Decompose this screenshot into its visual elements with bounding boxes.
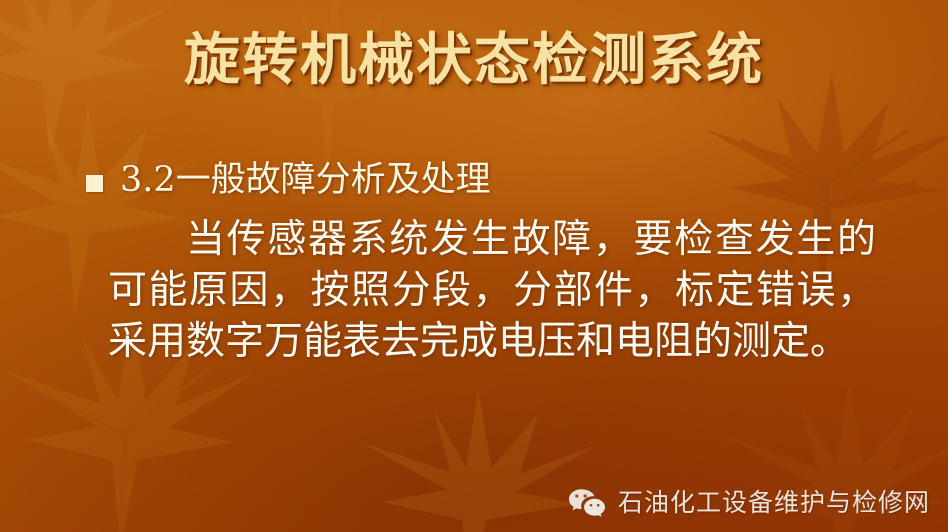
square-bullet-icon bbox=[86, 175, 103, 192]
bullet-heading-row: 3.2一般故障分析及处理 bbox=[86, 158, 491, 202]
slide-body-paragraph: 当传感器系统发生故障，要检查发生的可能原因，按照分段，分部件，标定错误，采用数字… bbox=[108, 214, 876, 367]
bullet-heading-label: 3.2一般故障分析及处理 bbox=[120, 158, 491, 202]
wechat-icon bbox=[568, 488, 606, 518]
slide-title: 旋转机械状态检测系统 bbox=[0, 24, 948, 96]
presentation-slide: 旋转机械状态检测系统 3.2一般故障分析及处理 当传感器系统发生故障，要检查发生… bbox=[0, 0, 948, 532]
watermark-label: 石油化工设备维护与检修网 bbox=[618, 488, 930, 518]
watermark: 石油化工设备维护与检修网 bbox=[568, 488, 930, 518]
